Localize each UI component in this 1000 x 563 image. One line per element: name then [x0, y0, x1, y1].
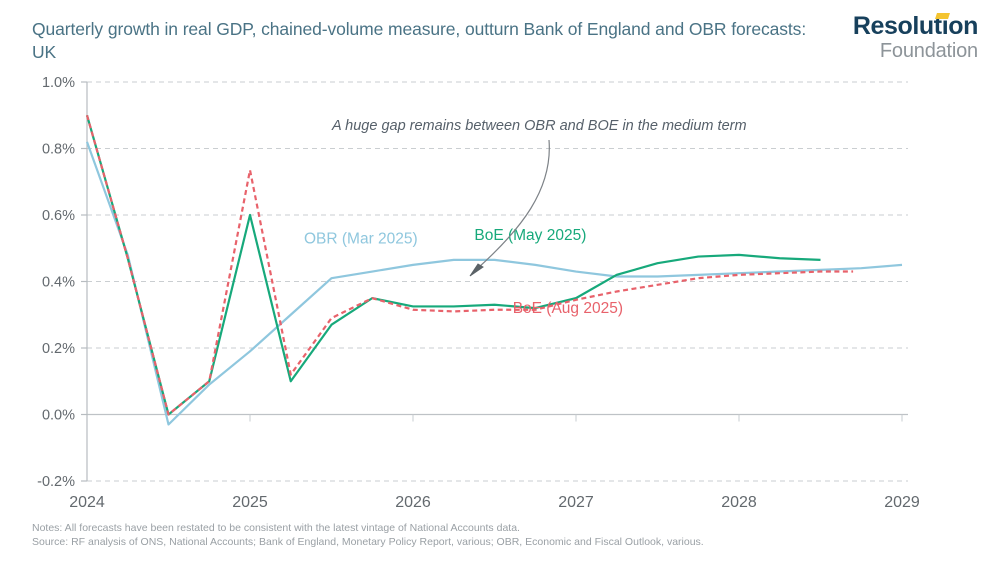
x-tick-label: 2027: [558, 494, 594, 511]
annotation-arrow-line: [478, 140, 549, 268]
annotation-callout: A huge gap remains between OBR and BOE i…: [331, 118, 747, 276]
x-tick-label: 2028: [721, 494, 757, 511]
series-line: [87, 115, 853, 414]
chart-plot-area: 1.0%0.8%0.6%0.4%0.2%0.0%-0.2% 2024202520…: [0, 0, 1000, 563]
series-line: [87, 115, 821, 414]
footnotes: Notes: All forecasts have been restated …: [32, 521, 704, 549]
y-tick-label: 1.0%: [42, 75, 75, 91]
annotation-arrowhead: [470, 264, 483, 276]
series-label: OBR (Mar 2025): [304, 230, 418, 247]
y-axis-ticks: 1.0%0.8%0.6%0.4%0.2%0.0%-0.2%: [37, 75, 75, 490]
chart-page: Quarterly growth in real GDP, chained-vo…: [0, 0, 1000, 563]
y-tick-label: 0.0%: [42, 408, 75, 424]
gridlines: [81, 82, 908, 481]
data-series: [87, 115, 902, 424]
footnote-notes: Notes: All forecasts have been restated …: [32, 521, 704, 535]
x-axis-ticks: 202420252026202720282029: [69, 415, 920, 512]
y-tick-label: -0.2%: [37, 474, 75, 490]
x-tick-label: 2024: [69, 494, 105, 511]
y-tick-label: 0.6%: [42, 208, 75, 224]
chart-svg: 1.0%0.8%0.6%0.4%0.2%0.0%-0.2% 2024202520…: [0, 0, 1000, 563]
y-tick-label: 0.8%: [42, 142, 75, 158]
x-tick-label: 2025: [232, 494, 268, 511]
footnote-source: Source: RF analysis of ONS, National Acc…: [32, 535, 704, 549]
x-tick-label: 2026: [395, 494, 431, 511]
series-label: BoE (May 2025): [474, 227, 586, 244]
annotation-label: A huge gap remains between OBR and BOE i…: [331, 118, 747, 134]
series-label: BoE (Aug 2025): [513, 300, 623, 317]
x-tick-label: 2029: [884, 494, 920, 511]
y-tick-label: 0.4%: [42, 275, 75, 291]
y-tick-label: 0.2%: [42, 341, 75, 357]
